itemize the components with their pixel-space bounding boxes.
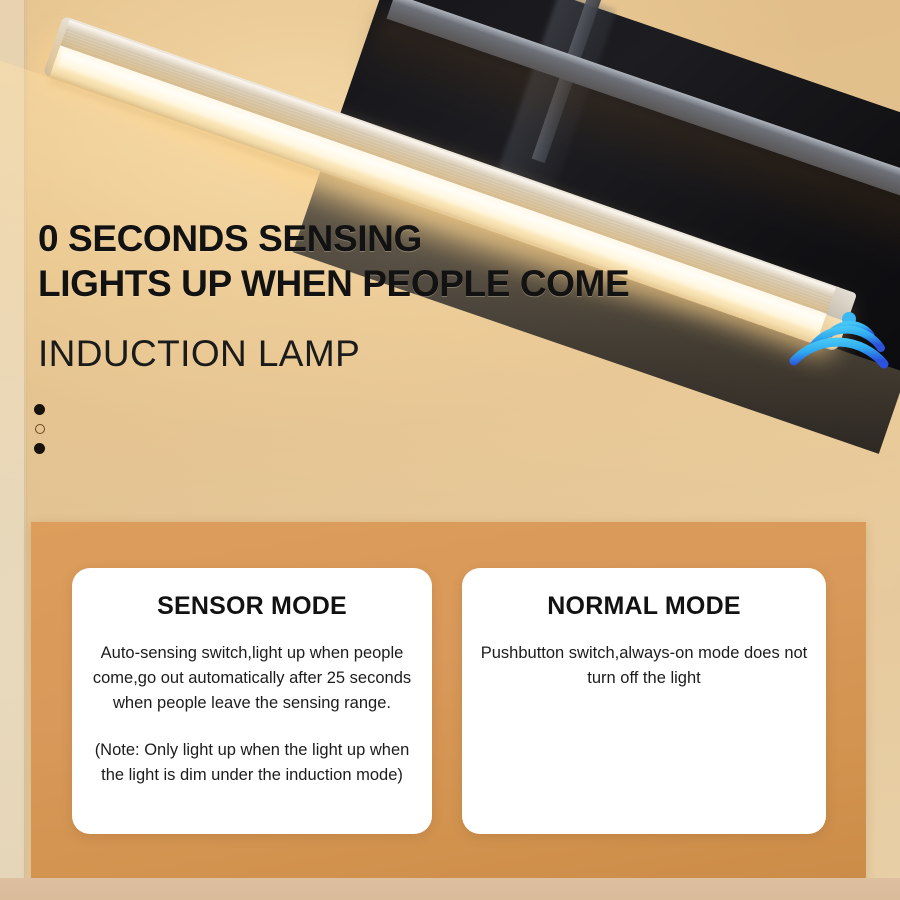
- carousel-dot-1[interactable]: [34, 404, 45, 415]
- mode-card-note: (Note: Only light up when the light up w…: [90, 738, 414, 788]
- mode-card-body: Auto-sensing switch,light up when people…: [90, 641, 414, 716]
- product-subtitle: INDUCTION LAMP: [38, 333, 360, 375]
- headline-line-2: LIGHTS UP WHEN PEOPLE COME: [38, 261, 629, 306]
- mode-card-normal: NORMAL MODE Pushbutton switch,always-on …: [462, 568, 826, 834]
- mode-card-sensor: SENSOR MODE Auto-sensing switch,light up…: [72, 568, 432, 834]
- headline-line-1: 0 SECONDS SENSING: [38, 218, 422, 259]
- mode-card-title: NORMAL MODE: [480, 592, 808, 621]
- mode-card-body: Pushbutton switch,always-on mode does no…: [480, 641, 808, 691]
- wave-arc-3: [794, 342, 884, 364]
- signal-wave-icon: [786, 306, 890, 386]
- mode-cards-container: SENSOR MODE Auto-sensing switch,light up…: [31, 522, 866, 882]
- page-title: 0 SECONDS SENSING LIGHTS UP WHEN PEOPLE …: [38, 216, 629, 306]
- mode-card-title: SENSOR MODE: [90, 592, 414, 621]
- wall-corner-strip: [0, 0, 26, 900]
- modes-panel: SENSOR MODE Auto-sensing switch,light up…: [31, 522, 866, 882]
- product-banner: 0 SECONDS SENSING LIGHTS UP WHEN PEOPLE …: [0, 0, 900, 900]
- carousel-dot-3[interactable]: [34, 443, 45, 454]
- carousel-dots[interactable]: [34, 404, 45, 454]
- base-strip: [0, 878, 900, 900]
- carousel-dot-2[interactable]: [35, 424, 45, 434]
- wall-corner-edge: [24, 0, 28, 900]
